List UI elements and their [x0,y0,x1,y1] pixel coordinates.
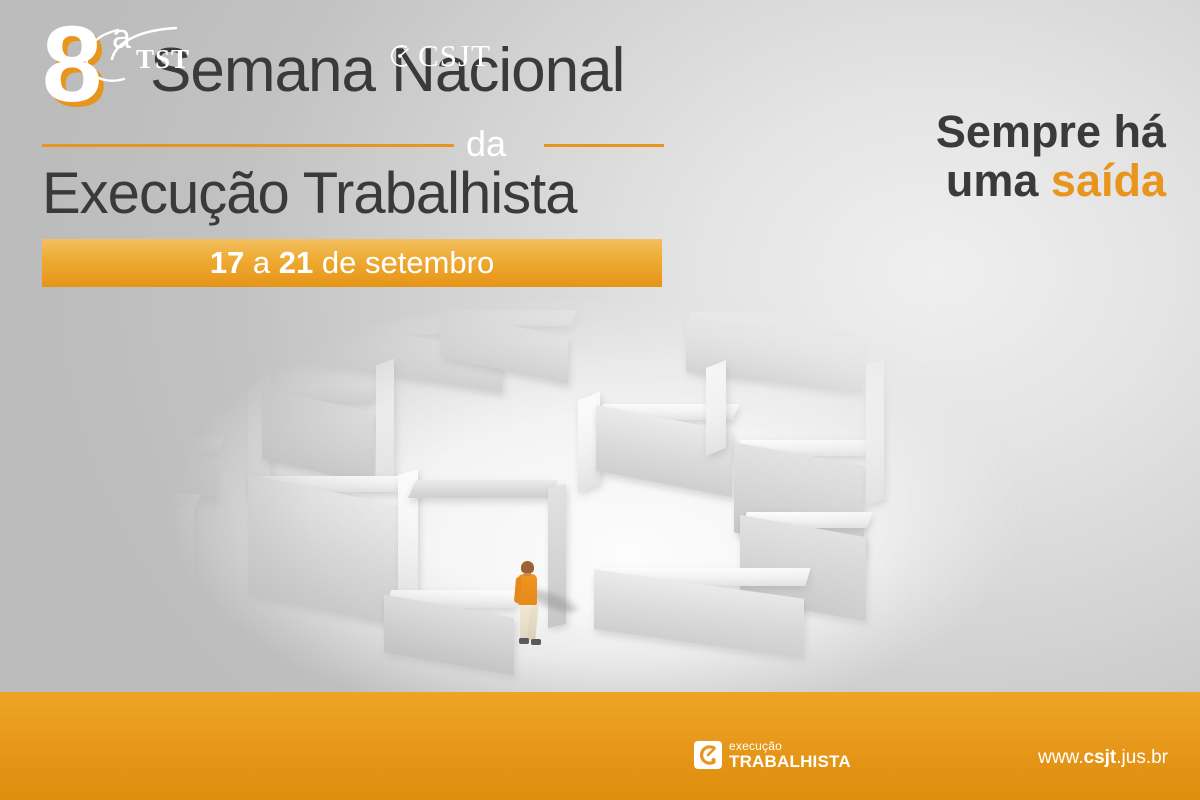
url-suffix: .jus.br [1116,747,1168,768]
url-prefix: www. [1038,747,1083,768]
execucao-wordmark: execução TRABALHISTA [729,740,851,770]
date-text: 17 a 21 de setembro [210,247,494,278]
date-join: a [244,245,278,280]
person-shoe [519,638,529,644]
person-figure [510,558,544,650]
logo-csjt[interactable]: CSJT [385,36,491,76]
maze-illustration [0,300,1200,700]
url-brand: csjt [1084,747,1117,768]
tagline-plain: uma [946,155,1051,206]
execucao-label-top: execução [729,740,851,752]
maze-wall [706,360,726,456]
date-bar: 17 a 21 de setembro [42,239,662,287]
date-month: de setembro [313,245,494,280]
csjt-label: CSJT [418,38,491,74]
person-shoe [531,639,541,645]
tagline-highlight: saída [1051,155,1166,206]
headline-connector: da [466,126,506,162]
maze-wall [176,503,194,641]
divider-line-right [544,144,664,147]
event-banner: 8 a Semana Nacional da Execução Trabalhi… [0,0,1200,800]
tst-label: TST [136,44,190,75]
date-end: 21 [279,245,313,280]
footer-url[interactable]: www.csjt.jus.br [1038,747,1168,769]
tagline-block: Sempre há uma saída [936,108,1166,205]
execucao-square-icon [694,741,722,769]
maze-wall [376,359,394,484]
headline-divider-row: da [42,128,682,162]
footer-bar [0,692,1200,800]
csjt-circle-icon [385,41,415,71]
logo-tst[interactable]: TST [78,26,278,84]
person-head [521,561,534,573]
date-start: 17 [210,245,244,280]
tagline-line-1: Sempre há [936,108,1166,157]
headline-execucao-trabalhista: Execução Trabalhista [42,164,682,225]
maze-wall [408,480,558,498]
logo-execucao-trabalhista[interactable]: execução TRABALHISTA [694,738,851,772]
maze-wall [204,313,224,414]
tagline-line-2: uma saída [936,157,1166,206]
divider-line-left [42,144,454,147]
maze-scene [0,300,1200,700]
execucao-label-bottom: TRABALHISTA [729,753,851,770]
maze-wall [866,359,884,504]
execucao-circle-glyph [694,741,722,769]
